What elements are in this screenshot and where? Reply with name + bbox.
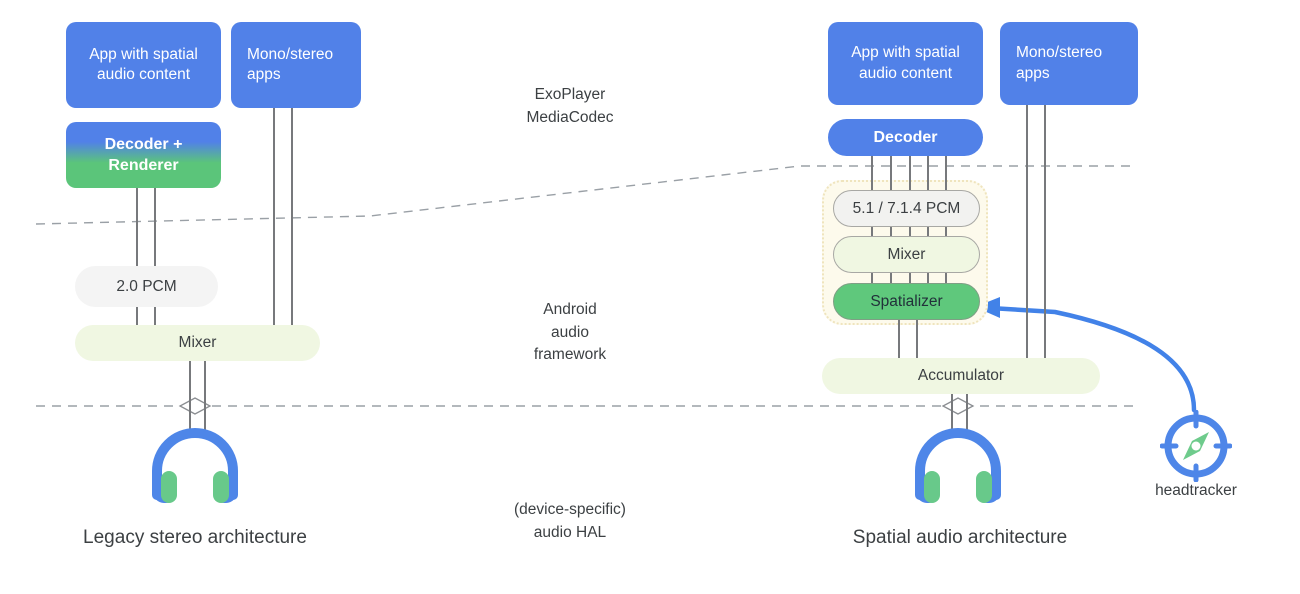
right-mixer-pill[interactable]: Mixer [833, 236, 980, 273]
left-app-mono-label: Mono/stereo apps [241, 45, 351, 86]
right-caption-text: Spatial audio architecture [853, 527, 1067, 548]
headtracker-compass-icon[interactable] [1160, 410, 1232, 482]
right-caption: Spatial audio architecture [800, 527, 1120, 549]
left-decoder-renderer-box[interactable]: Decoder + Renderer [66, 122, 221, 188]
left-mixer-label: Mixer [179, 334, 217, 352]
left-mixer-pill[interactable]: Mixer [75, 325, 320, 361]
layer-label-top: ExoPlayer MediaCodec [470, 62, 670, 129]
right-spatializer-label: Spatializer [870, 293, 942, 311]
right-pcm-label: 5.1 / 7.1.4 PCM [853, 200, 961, 218]
diagram-canvas: App with spatial audio content Mono/ster… [0, 0, 1300, 594]
right-app-mono-box[interactable]: Mono/stereo apps [1000, 22, 1138, 105]
connector-left-mono-2 [291, 108, 293, 325]
headtracker-caption: headtracker [1126, 482, 1266, 500]
left-pcm-label: 2.0 PCM [116, 278, 176, 296]
right-app-spatial-label: App with spatial audio content [851, 43, 960, 84]
left-decoder-renderer-label: Decoder + Renderer [105, 134, 183, 176]
right-mixer-label: Mixer [888, 246, 926, 264]
right-accumulator-label: Accumulator [918, 367, 1004, 385]
layer-label-middle: Android audio framework [470, 277, 670, 367]
left-app-spatial-box[interactable]: App with spatial audio content [66, 22, 221, 108]
right-app-spatial-box[interactable]: App with spatial audio content [828, 22, 983, 105]
connector-right-out-1 [951, 390, 953, 430]
right-app-mono-label: Mono/stereo apps [1010, 43, 1128, 84]
connector-left-mono-1 [273, 108, 275, 325]
left-headphones-icon [145, 425, 245, 503]
layer-label-top-text: ExoPlayer MediaCodec [526, 86, 613, 125]
left-app-spatial-label: App with spatial audio content [89, 45, 198, 86]
connector-right-mono-1 [1026, 105, 1028, 358]
right-decoder-box[interactable]: Decoder [828, 119, 983, 156]
right-pcm-pill[interactable]: 5.1 / 7.1.4 PCM [833, 190, 980, 227]
right-decoder-label: Decoder [873, 127, 937, 148]
connector-right-mono-2 [1044, 105, 1046, 358]
connector-left-out-2 [204, 358, 206, 430]
left-pcm-pill[interactable]: 2.0 PCM [75, 266, 218, 307]
connector-right-spat-2 [916, 318, 918, 360]
layer-label-bottom: (device-specific) audio HAL [470, 477, 670, 544]
left-caption-text: Legacy stereo architecture [83, 527, 307, 548]
headtracker-caption-text: headtracker [1155, 482, 1237, 499]
right-headphones-icon [908, 425, 1008, 503]
connector-left-out-1 [189, 358, 191, 430]
layer-label-middle-text: Android audio framework [534, 301, 606, 363]
left-caption: Legacy stereo architecture [40, 527, 350, 549]
left-app-mono-box[interactable]: Mono/stereo apps [231, 22, 361, 108]
right-accumulator-pill[interactable]: Accumulator [822, 358, 1100, 394]
layer-label-bottom-text: (device-specific) audio HAL [514, 501, 626, 540]
connector-right-spat-1 [898, 318, 900, 360]
connector-right-out-2 [966, 390, 968, 430]
right-spatializer-pill[interactable]: Spatializer [833, 283, 980, 320]
